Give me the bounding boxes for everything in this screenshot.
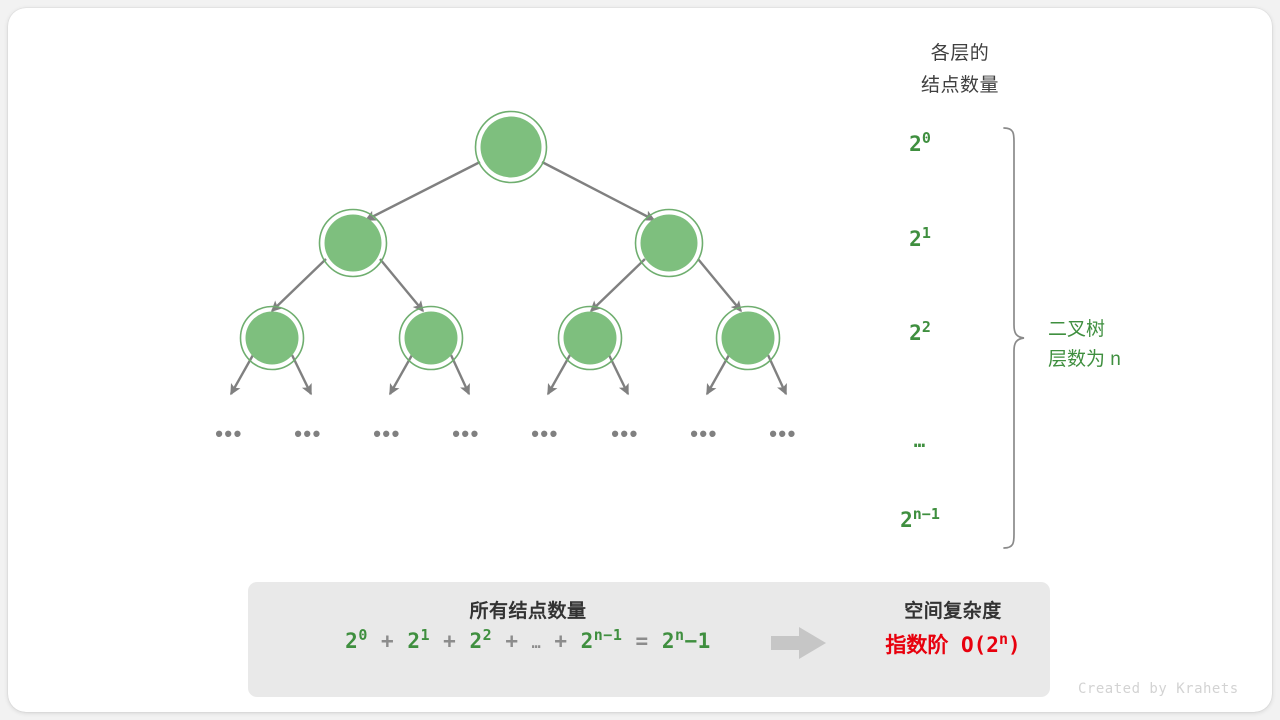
level-count-base-1: 2	[909, 227, 922, 251]
tree-node-l3-2	[400, 307, 463, 370]
tree-node-l3-1	[241, 307, 304, 370]
tree-edges	[231, 162, 786, 394]
edge-l2a-left	[272, 259, 326, 311]
summary-box: 所有结点数量 20 + 21 + 22 + … + 2n−1 = 2n−1	[248, 582, 1050, 697]
leaf-ellipsis-8: •••	[769, 423, 797, 445]
edge-l2b-right	[698, 259, 741, 311]
term-1-base: 2	[407, 629, 420, 653]
formula-ellipsis: …	[532, 634, 542, 652]
brace-annotation-line1: 二叉树	[1048, 315, 1208, 345]
equals-operator: =	[636, 629, 649, 653]
level-count-label-2: 22	[840, 321, 1000, 345]
level-count-label-1: 21	[840, 227, 1000, 251]
level-count-base-0: 2	[909, 132, 922, 156]
summary-left-section: 所有结点数量 20 + 21 + 22 + … + 2n−1 = 2n−1	[248, 596, 808, 653]
level-count-label-last: 2n−1	[840, 508, 1000, 532]
brace-annotation: 二叉树 层数为 n	[1048, 315, 1208, 375]
level-count-ellipsis: …	[840, 430, 1000, 452]
term-last-exp: n−1	[594, 626, 623, 644]
term-0-exp: 0	[358, 626, 368, 644]
edge-l3a-right	[292, 355, 311, 394]
edge-l2b-left	[591, 259, 645, 311]
column-header-line2: 结点数量	[860, 70, 1060, 102]
plus-operator-1: +	[381, 629, 394, 653]
term-2-exp: 2	[483, 626, 493, 644]
term-0-base: 2	[345, 629, 358, 653]
tree-node-l2-right	[636, 210, 703, 277]
level-count-base-last: 2	[900, 508, 913, 532]
edge-l3c-left	[548, 355, 570, 394]
tree-node-l3-3	[559, 307, 622, 370]
plus-operator-3: +	[505, 629, 518, 653]
leaf-ellipsis-2: •••	[294, 423, 322, 445]
complexity-value: 指数阶 O(2n)	[856, 629, 1050, 659]
edge-root-right	[542, 162, 654, 220]
leaf-ellipsis-1: •••	[215, 423, 243, 445]
leaf-ellipsis-7: •••	[690, 423, 718, 445]
edge-root-left	[366, 162, 480, 220]
tree-node-l2-left	[320, 210, 387, 277]
result-base: 2	[662, 629, 675, 653]
tree-node-root	[476, 112, 547, 183]
plus-operator-4: +	[554, 629, 567, 653]
screenshot-root: 各层的 结点数量 20 21 22 … 2n−1 二叉树 层数为 n ••• •…	[0, 0, 1280, 720]
complexity-section: 空间复杂度 指数阶 O(2n)	[856, 596, 1050, 659]
leaf-ellipsis-4: •••	[452, 423, 480, 445]
tree-node-l3-4	[717, 307, 780, 370]
leaf-ellipsis-3: •••	[373, 423, 401, 445]
complexity-order-label: 指数阶	[885, 634, 948, 657]
column-header-line1: 各层的	[860, 38, 1060, 70]
right-arrow-icon	[769, 624, 829, 662]
level-span-brace	[1004, 128, 1024, 548]
diagram-card: 各层的 结点数量 20 21 22 … 2n−1 二叉树 层数为 n ••• •…	[8, 8, 1272, 712]
plus-operator-2: +	[443, 629, 456, 653]
term-2-base: 2	[469, 629, 482, 653]
leaf-ellipsis-5: •••	[531, 423, 559, 445]
complexity-notation: O(2	[961, 633, 999, 657]
summary-title: 所有结点数量	[248, 596, 808, 623]
complexity-notation-exp: n	[999, 630, 1008, 648]
level-count-base-2: 2	[909, 321, 922, 345]
complexity-notation-tail: )	[1008, 633, 1021, 657]
leaf-ellipsis-6: •••	[611, 423, 639, 445]
tree-nodes	[241, 112, 780, 370]
term-1-exp: 1	[420, 626, 430, 644]
result-exp: n	[675, 626, 685, 644]
level-count-exp-1: 1	[922, 224, 931, 242]
level-count-exp-last: n−1	[913, 505, 940, 523]
brace-annotation-line2: 层数为 n	[1048, 345, 1208, 375]
credit-text: Created by Krahets	[1078, 681, 1239, 697]
summary-formula: 20 + 21 + 22 + … + 2n−1 = 2n−1	[248, 629, 808, 653]
edge-l2a-right	[380, 259, 423, 311]
complexity-title: 空间复杂度	[856, 596, 1050, 623]
column-header: 各层的 结点数量	[860, 38, 1060, 102]
level-count-label-0: 20	[840, 132, 1000, 156]
level-count-exp-0: 0	[922, 129, 931, 147]
term-last-base: 2	[581, 629, 594, 653]
level-count-exp-2: 2	[922, 318, 931, 336]
result-tail: −1	[685, 629, 711, 653]
